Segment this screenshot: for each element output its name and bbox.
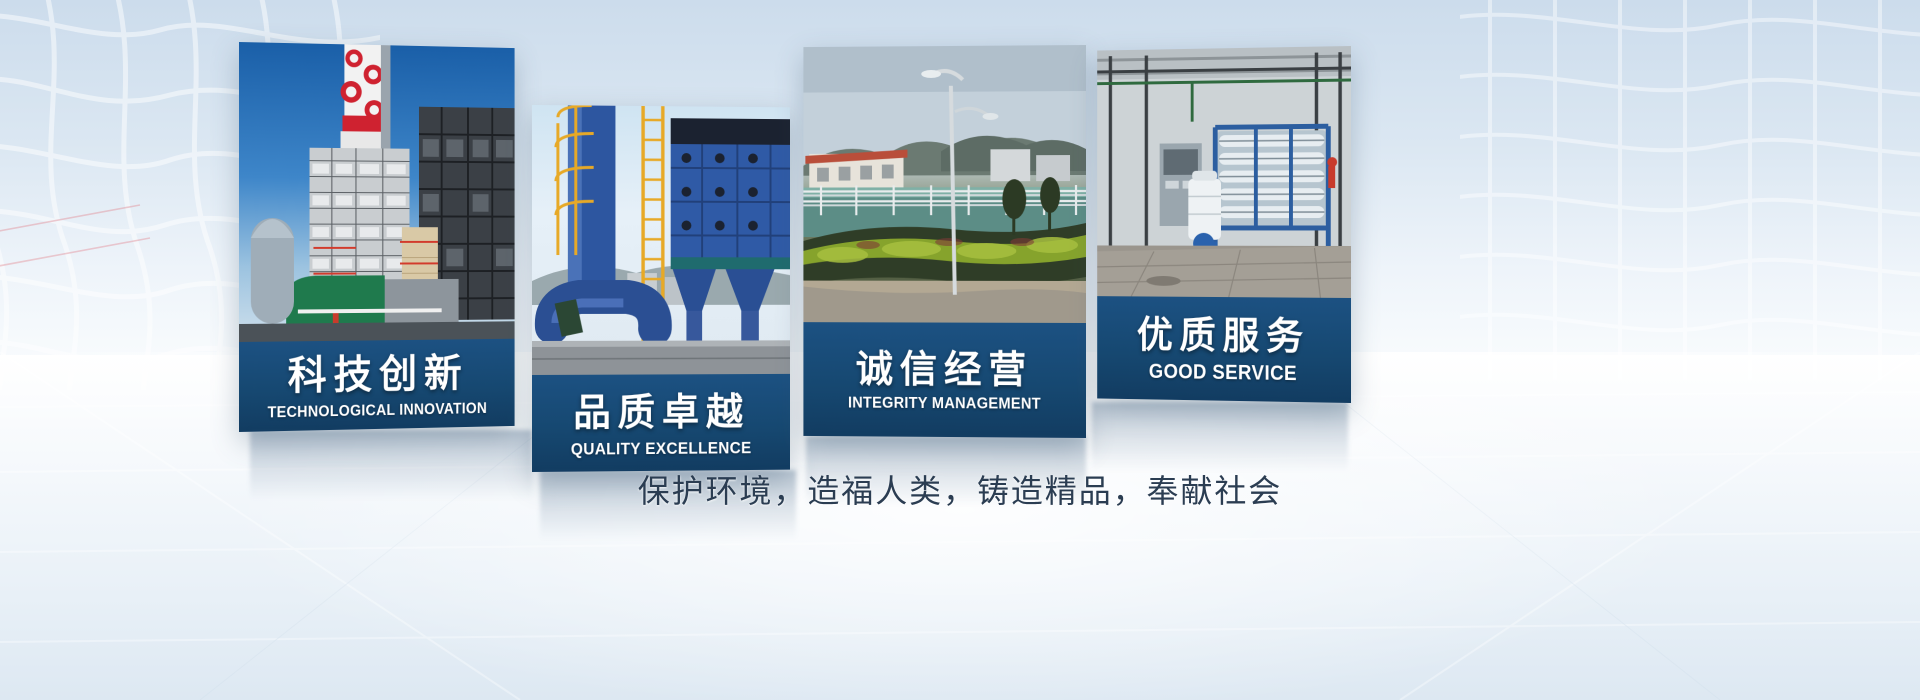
caption-en-quality-excellence: QUALITY EXCELLENCE	[571, 439, 752, 457]
panel-technological-innovation[interactable]: 科技创新 TECHNOLOGICAL INNOVATION	[239, 42, 515, 432]
photo-integrity-management	[803, 45, 1086, 323]
photo-good-service	[1097, 46, 1351, 298]
caption-en-technological-innovation: TECHNOLOGICAL INNOVATION	[268, 401, 488, 421]
panel-quality-excellence[interactable]: 品质卓越 QUALITY EXCELLENCE	[532, 105, 790, 472]
caption-cn-technological-innovation: 科技创新	[288, 353, 469, 395]
photo-technological-innovation	[239, 42, 515, 342]
caption-cn-quality-excellence: 品质卓越	[573, 392, 750, 431]
banner-stage: 科技创新 TECHNOLOGICAL INNOVATION	[0, 0, 1920, 700]
caption-technological-innovation: 科技创新 TECHNOLOGICAL INNOVATION	[239, 339, 515, 432]
photo-quality-excellence	[532, 105, 790, 375]
caption-en-good-service: GOOD SERVICE	[1149, 361, 1297, 384]
tagline: 保护环境，造福人类，铸造精品，奉献社会	[0, 466, 1920, 512]
caption-en-integrity-management: INTEGRITY MANAGEMENT	[848, 395, 1041, 412]
panel-integrity-management[interactable]: 诚信经营 INTEGRITY MANAGEMENT	[803, 45, 1086, 438]
caption-cn-integrity-management: 诚信经营	[856, 350, 1033, 389]
caption-integrity-management: 诚信经营 INTEGRITY MANAGEMENT	[803, 322, 1086, 438]
caption-cn-good-service: 优质服务	[1137, 316, 1310, 355]
panel-good-service[interactable]: 优质服务 GOOD SERVICE	[1097, 46, 1351, 403]
caption-good-service: 优质服务 GOOD SERVICE	[1097, 296, 1351, 403]
caption-quality-excellence: 品质卓越 QUALITY EXCELLENCE	[532, 374, 790, 472]
panel-group: 科技创新 TECHNOLOGICAL INNOVATION	[0, 0, 1920, 700]
